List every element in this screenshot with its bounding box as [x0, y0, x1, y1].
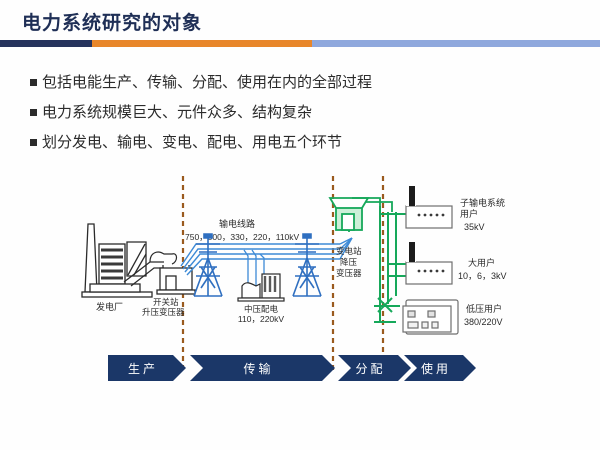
- label-large-customer-voltage: 10，6，3kV: [458, 271, 507, 281]
- label-mv-distribution-line1: 中压配电: [244, 304, 279, 314]
- label-switchyard-line2: 升压变压器: [142, 307, 185, 317]
- mv-distribution-icon: [238, 274, 284, 301]
- stage-chevron-generation[interactable]: 生产: [108, 355, 186, 381]
- label-low-voltage-voltage: 380/220V: [464, 317, 503, 327]
- label-power-plant: 发电厂: [96, 301, 123, 312]
- label-transmission-voltage: 750，500，330，220，110kV: [185, 232, 300, 242]
- bullet-text: 划分发电、输电、变电、配电、用电五个环节: [42, 132, 342, 154]
- bullet-text: 包括电能生产、传输、分配、使用在内的全部过程: [42, 72, 372, 94]
- square-bullet-icon: [30, 79, 37, 86]
- stage-ribbon: 生产 传输 分配 使用: [0, 355, 600, 385]
- power-plant-icon: [82, 224, 152, 297]
- step-up-transformer-icon: [157, 265, 195, 294]
- title-accent-rule: [0, 40, 600, 47]
- page-title: 电力系统研究的对象: [22, 8, 202, 35]
- stage-label: 生产: [128, 360, 158, 377]
- stage-label: 传输: [243, 360, 273, 377]
- distribution-feeders-green: [374, 206, 406, 322]
- transmission-tower-icon: [293, 234, 321, 296]
- label-large-customer: 大用户: [468, 257, 495, 268]
- low-voltage-customer-icon: [403, 300, 458, 334]
- label-low-voltage-customer: 低压用户: [466, 303, 502, 314]
- square-bullet-icon: [30, 109, 37, 116]
- large-customer-icon: [406, 242, 452, 284]
- label-subtransmission-line2: 用户: [460, 208, 478, 219]
- label-transmission-title: 输电线路: [219, 218, 255, 229]
- stage-label: 使用: [421, 360, 451, 377]
- substation-icon: [336, 208, 362, 230]
- label-substation-line3: 变压器: [336, 268, 362, 278]
- label-subtransmission-voltage: 35kV: [464, 222, 485, 232]
- stage-label: 分配: [355, 360, 385, 377]
- stage-chevron-transmission[interactable]: 传输: [190, 355, 335, 381]
- list-item: 包括电能生产、传输、分配、使用在内的全部过程: [30, 72, 570, 94]
- bullet-list: 包括电能生产、传输、分配、使用在内的全部过程 电力系统规模巨大、元件众多、结构复…: [30, 72, 570, 161]
- label-substation-line1: 变电站: [336, 246, 362, 256]
- bullet-text: 电力系统规模巨大、元件众多、结构复杂: [42, 102, 312, 124]
- stage-chevron-distribution[interactable]: 分配: [338, 355, 411, 381]
- label-subtransmission-line1: 子输电系统: [460, 197, 505, 208]
- label-switchyard-line1: 开关站: [153, 297, 179, 307]
- accent-segment-navy: [0, 40, 92, 47]
- transmission-tower-icon: [194, 234, 222, 296]
- accent-segment-orange: [92, 40, 312, 47]
- label-substation-line2: 降压: [340, 257, 358, 267]
- stage-chevron-usage[interactable]: 使用: [404, 355, 476, 381]
- square-bullet-icon: [30, 139, 37, 146]
- sub-transmission-customer-icon: [406, 186, 452, 228]
- list-item: 电力系统规模巨大、元件众多、结构复杂: [30, 102, 570, 124]
- label-mv-distribution-line2: 110，220kV: [238, 314, 284, 324]
- slide-canvas: 电力系统研究的对象 包括电能生产、传输、分配、使用在内的全部过程 电力系统规模巨…: [0, 0, 600, 450]
- accent-segment-blue: [312, 40, 600, 47]
- list-item: 划分发电、输电、变电、配电、用电五个环节: [30, 132, 570, 154]
